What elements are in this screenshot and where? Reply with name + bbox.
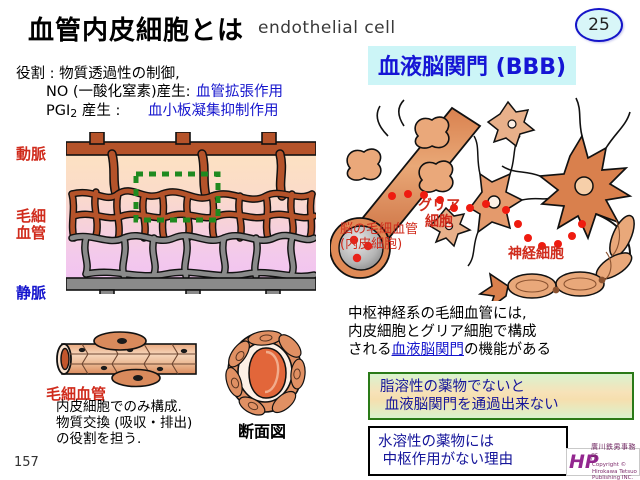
role-line-3-label: PGI2 産生 : [46,99,120,120]
slide-canvas: 血管内皮細胞とは endothelial cell 25 役割 : 物質透過性の… [0,0,640,480]
hp-logo-mark: HP [567,450,591,474]
capillary-tube-diagram [52,330,200,390]
cross-section-diagram [222,328,308,416]
role-line-2-label: NO (一酸化窒素)産生: [46,80,191,101]
label-capillary-bed: 毛細 血管 [16,208,46,242]
publisher-logo: HP 廣川鉄男事務所 Copyright © Hirokawa Tetsuo P… [566,448,640,476]
publisher-company-name: 廣川鉄男事務所 [591,442,639,462]
label-glia-cell: グリア 細胞 [418,198,460,230]
pgi2-suffix: 産生 : [77,103,120,119]
label-cross-section: 断面図 [238,418,286,442]
page-title: 血管内皮細胞とは [28,10,244,47]
bbb-banner-title: 血液脳関門 (BBB) [368,46,576,85]
no-effect-label: 血管拡張作用 [196,80,283,101]
bbb-illustration [330,96,640,301]
publisher-name: Publishing INC. [591,475,639,480]
label-artery: 動脈 [16,146,46,163]
publisher-copyright: Copyright © Hirokawa Tetsuo [591,462,639,475]
bbb-term-highlight: 血液脳関門 [392,342,465,358]
label-brain-capillary: 脳の毛細血管 (内皮細胞) [340,222,418,252]
capillary-tube-description: 内皮細胞でのみ構成. 物質交換 (吸収・排出) の役割を担う. [56,399,192,447]
pgi2-effect-label: 血小板凝集抑制作用 [148,99,279,120]
cns-description-text: 中枢神経系の毛細血管には, 内皮細胞とグリア細胞で構成 される血液脳関門の機能が… [348,306,551,358]
label-vein: 静脈 [16,282,46,303]
capillary-bed-diagram [66,132,316,294]
slide-number-text: 25 [588,15,610,35]
lipid-soluble-callout-text: 脂溶性の薬物でないと 血液脳関門を通過出来ない [370,374,632,414]
slide-number-badge: 25 [575,8,623,42]
cns-description: 中枢神経系の毛細血管には, 内皮細胞とグリア細胞で構成 される血液脳関門の機能が… [348,305,551,359]
lipid-soluble-callout-box: 脂溶性の薬物でないと 血液脳関門を通過出来ない [368,372,634,420]
water-soluble-callout-text: 水溶性の薬物には 中枢作用がない理由 [370,428,566,469]
vein-vessels [66,278,316,294]
label-neuron: 神経細胞 [508,243,564,263]
page-title-english: endothelial cell [258,18,396,38]
water-soluble-callout-box: 水溶性の薬物には 中枢作用がない理由 [368,426,568,476]
pgi2-text: PGI [46,103,70,119]
page-number: 157 [14,455,39,470]
